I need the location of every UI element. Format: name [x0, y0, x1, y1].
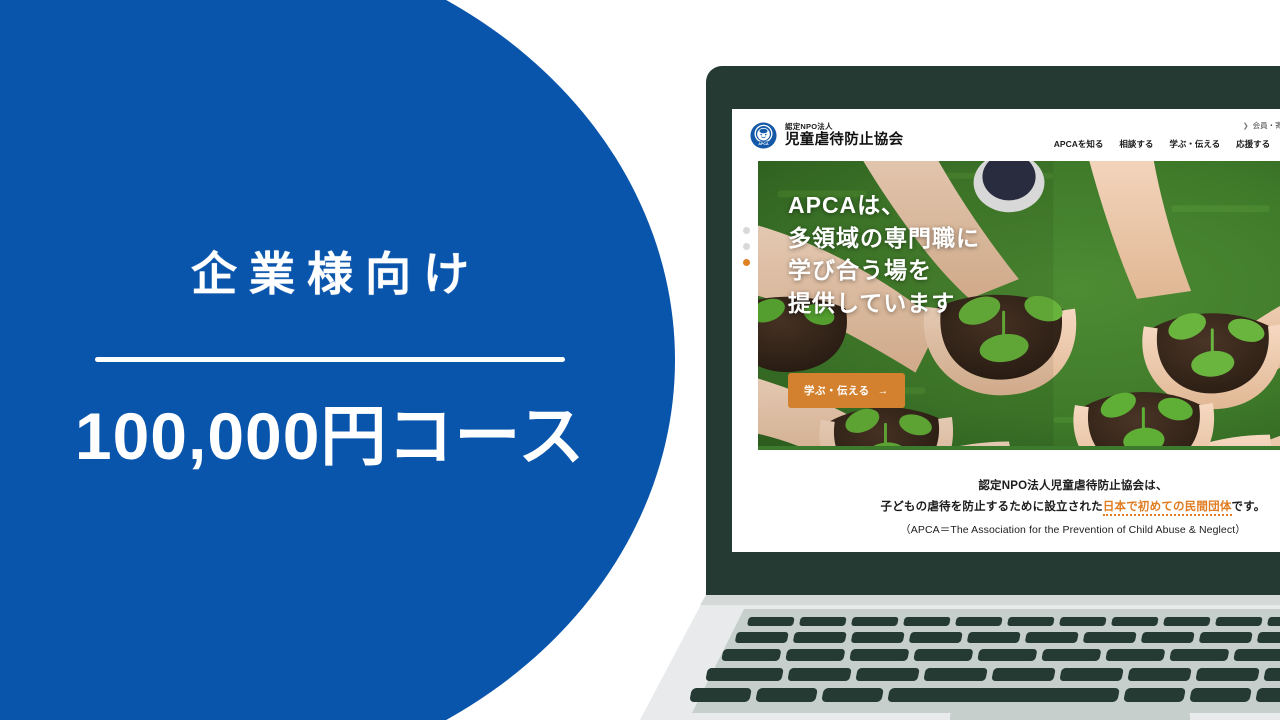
hero-headline-line-4: 提供しています [788, 287, 980, 320]
promo-divider [95, 357, 565, 362]
member-page-link[interactable]: ❯ 会員・寄付者ページ [1243, 120, 1280, 131]
hero-cta-label: 学ぶ・伝える [804, 383, 870, 398]
site-logo-text: 認定NPO法人 児童虐待防止協会 [785, 123, 903, 147]
speech-bubble: 企業様向け 100,000円コース [0, 0, 700, 720]
site-logo-subtitle: 認定NPO法人 [785, 123, 903, 131]
hero-headline: APCAは、 多領域の専門職に 学び合う場を 提供しています [788, 189, 980, 320]
promo-kicker: 企業様向け [179, 249, 481, 300]
hero-banner: APCAは、 多領域の専門職に 学び合う場を 提供しています 学ぶ・伝える → [758, 161, 1280, 450]
nav-item-learn[interactable]: 学ぶ・伝える [1169, 138, 1220, 150]
member-page-link-label: 会員・寄付者ページ [1253, 120, 1280, 131]
apca-logo-icon: APCA [750, 122, 777, 149]
browser-screen: APCA 認定NPO法人 児童虐待防止協会 ❯ 会員・寄付者ページ [732, 109, 1280, 552]
promo-slide: 企業様向け 100,000円コース [0, 0, 1280, 720]
site-nav-block: ❯ 会員・寄付者ページ APCAを知る 相談する 学ぶ・伝える 応援する お知ら… [1054, 109, 1280, 161]
site-header: APCA 認定NPO法人 児童虐待防止協会 ❯ 会員・寄付者ページ [732, 109, 1280, 161]
slider-dots [743, 227, 750, 266]
chevron-right-icon: ❯ [1243, 122, 1249, 130]
hero-headline-line-1: APCAは、 [788, 189, 980, 222]
arrow-right-icon: → [878, 385, 889, 397]
site-logo[interactable]: APCA 認定NPO法人 児童虐待防止協会 [750, 122, 903, 149]
slider-dot-3[interactable] [743, 259, 750, 266]
nav-item-about[interactable]: APCAを知る [1054, 138, 1104, 150]
laptop-mockup: APCA 認定NPO法人 児童虐待防止協会 ❯ 会員・寄付者ページ [706, 66, 1280, 720]
hero-cta-button[interactable]: 学ぶ・伝える → [788, 373, 905, 408]
slider-dot-1[interactable] [743, 227, 750, 234]
intro-line-2-pre: 子どもの虐待を防止するために設立された [881, 501, 1103, 513]
slider-dot-2[interactable] [743, 243, 750, 250]
promo-copy: 企業様向け 100,000円コース [0, 0, 660, 720]
intro-line-2-post: です。 [1232, 501, 1266, 513]
nav-item-support[interactable]: 応援する [1236, 138, 1270, 150]
nav-item-consult[interactable]: 相談する [1119, 138, 1153, 150]
intro-line-2: 子どもの虐待を防止するために設立された日本で初めての民間団体です。 [758, 497, 1280, 518]
hero-headline-line-3: 学び合う場を [788, 254, 980, 287]
svg-text:APCA: APCA [758, 142, 769, 146]
hero-headline-line-2: 多領域の専門職に [788, 222, 980, 255]
laptop-base-shape [640, 595, 1280, 720]
intro-line-1: 認定NPO法人児童虐待防止協会は、 [758, 476, 1280, 497]
laptop-bezel: APCA 認定NPO法人 児童虐待防止協会 ❯ 会員・寄付者ページ [706, 66, 1280, 595]
laptop-base [640, 595, 1280, 720]
promo-price: 100,000円コース [75, 402, 585, 471]
intro-line-3: （APCA＝The Association for the Prevention… [758, 519, 1280, 541]
trackpad [950, 707, 1190, 720]
site-logo-title: 児童虐待防止協会 [785, 133, 903, 148]
intro-text-block: 認定NPO法人児童虐待防止協会は、 子どもの虐待を防止するために設立された日本で… [732, 450, 1280, 541]
main-nav: APCAを知る 相談する 学ぶ・伝える 応援する お知らせ [1054, 138, 1280, 150]
intro-line-2-highlight: 日本で初めての民間団体 [1103, 501, 1232, 516]
